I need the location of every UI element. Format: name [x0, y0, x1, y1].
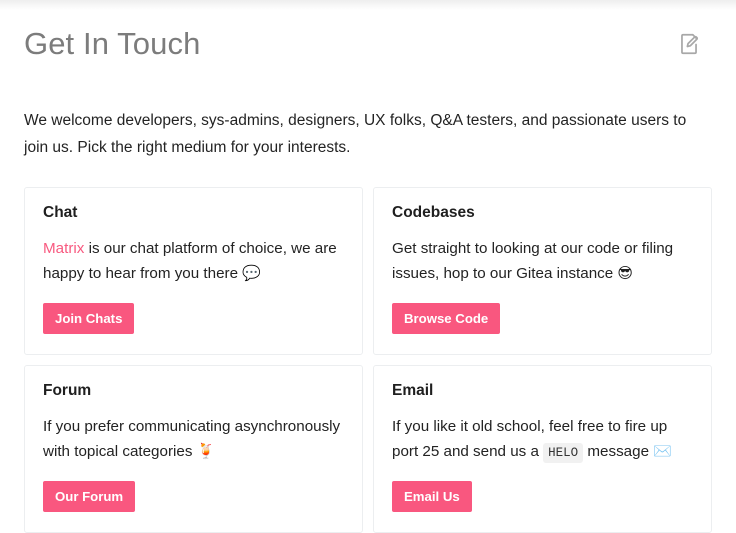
- page-title: Get In Touch: [24, 27, 200, 61]
- contact-card-grid: Chat Matrix is our chat platform of choi…: [24, 187, 712, 533]
- matrix-link[interactable]: Matrix: [43, 240, 84, 257]
- our-forum-button[interactable]: Our Forum: [43, 481, 135, 512]
- edit-page-icon[interactable]: [676, 31, 712, 57]
- card-description-text-tail: message: [583, 443, 653, 460]
- card-description-text: If you prefer communicating asynchronous…: [43, 418, 340, 461]
- tropical-drink-emoji: 🍹: [197, 442, 216, 460]
- contact-card-codebases: Codebases Get straight to looking at our…: [373, 187, 712, 355]
- card-description: If you prefer communicating asynchronous…: [43, 414, 344, 465]
- email-us-button[interactable]: Email Us: [392, 481, 472, 512]
- card-description: Matrix is our chat platform of choice, w…: [43, 236, 344, 287]
- browse-code-button[interactable]: Browse Code: [392, 303, 500, 334]
- card-title: Chat: [43, 204, 344, 223]
- sunglasses-face-emoji: 😎: [617, 264, 633, 282]
- page-header: Get In Touch: [24, 0, 712, 66]
- contact-card-forum: Forum If you prefer communicating asynch…: [24, 365, 363, 533]
- card-description-text: is our chat platform of choice, we are h…: [43, 240, 337, 283]
- helo-code-span: HELO: [543, 443, 583, 463]
- card-description: If you like it old school, feel free to …: [392, 414, 693, 465]
- speech-balloon-emoji: 💬: [242, 264, 261, 282]
- card-title: Email: [392, 382, 693, 401]
- intro-paragraph: We welcome developers, sys-admins, desig…: [24, 66, 712, 161]
- join-chats-button[interactable]: Join Chats: [43, 303, 134, 334]
- card-title: Codebases: [392, 204, 693, 223]
- envelope-emoji: ✉️: [653, 442, 672, 460]
- contact-card-chat: Chat Matrix is our chat platform of choi…: [24, 187, 363, 355]
- contact-page: Get In Touch We welcome developers, sys-…: [0, 0, 736, 533]
- contact-card-email: Email If you like it old school, feel fr…: [373, 365, 712, 533]
- card-description: Get straight to looking at our code or f…: [392, 236, 693, 287]
- card-title: Forum: [43, 382, 344, 401]
